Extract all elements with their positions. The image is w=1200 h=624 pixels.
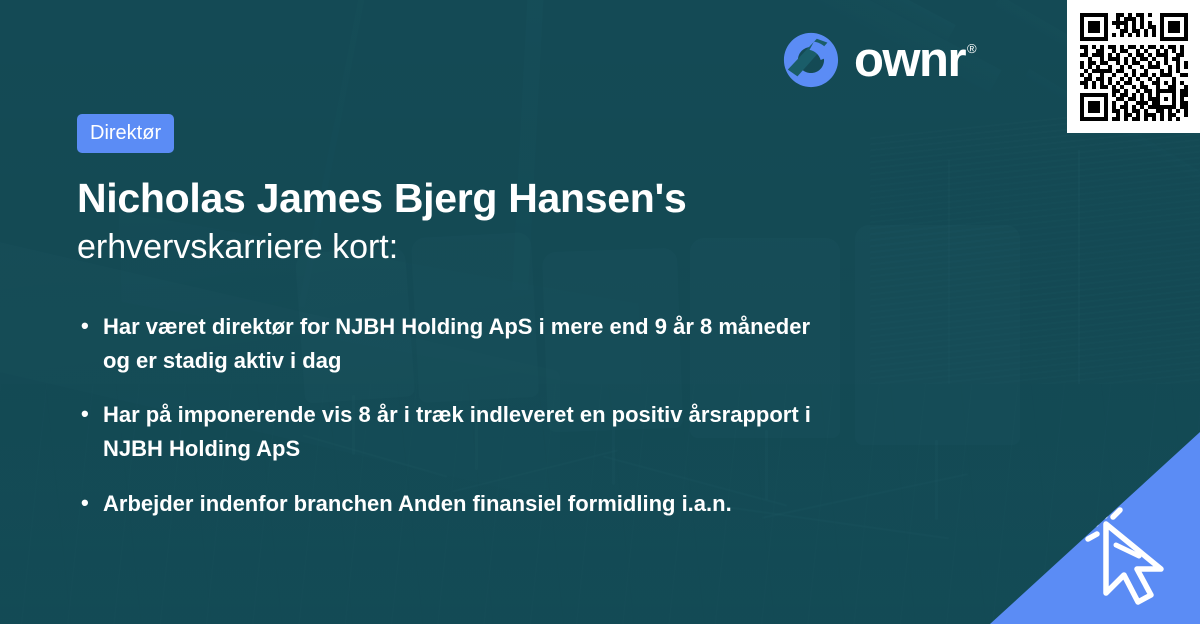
qr-panel[interactable] [1067, 0, 1200, 133]
qr-code[interactable] [1076, 9, 1192, 125]
facts-list: Har været direktør for NJBH Holding ApS … [77, 310, 1037, 520]
content-block: Direktør Nicholas James Bjerg Hansen's e… [77, 0, 1037, 541]
list-item: Har været direktør for NJBH Holding ApS … [77, 310, 837, 378]
list-item: Arbejder indenfor branchen Anden finansi… [77, 487, 837, 521]
list-item: Har på imponerende vis 8 år i træk indle… [77, 398, 837, 466]
role-badge: Direktør [77, 114, 174, 153]
page-title: Nicholas James Bjerg Hansen's [77, 175, 1037, 221]
career-card: ownr ® Direktør Nicholas James Bjerg Han… [0, 0, 1200, 624]
page-subtitle: erhvervskarriere kort: [77, 227, 1037, 268]
